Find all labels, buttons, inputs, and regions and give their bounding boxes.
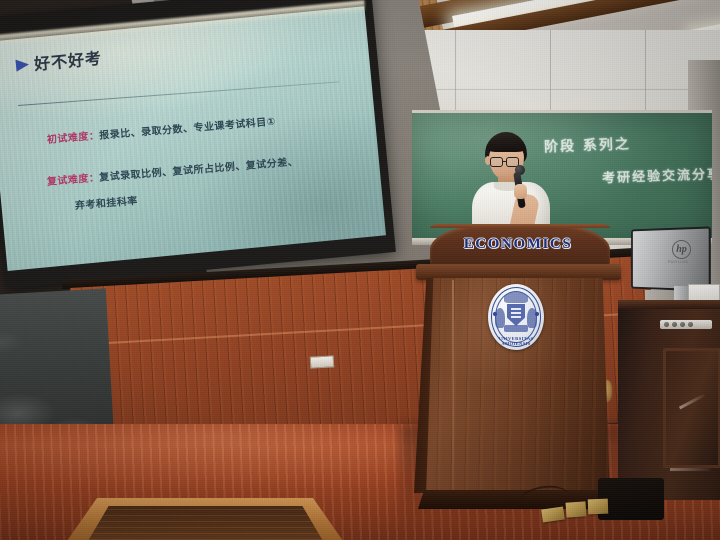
gold-objects-on-floor [540, 496, 650, 530]
glasses-bridge-icon [503, 161, 506, 162]
av-control-cabinet[interactable] [618, 300, 720, 500]
lecture-hall-scene: 阶段 系列之 考研经验交流分享会 好不好考 初试难度：报录比、录取分数、专业课考… [0, 0, 720, 540]
presenter-hand [514, 184, 527, 199]
lectern-ledge [416, 264, 621, 280]
cabinet-control-buttons[interactable] [660, 320, 712, 329]
lectern-edge-highlight [452, 280, 454, 494]
stage-step-surface [78, 506, 333, 540]
wall-switch-plate[interactable] [310, 355, 335, 368]
university-seal-text: UNIVERSITAS AMOIENSIS [488, 336, 544, 346]
cabinet-top-trim [618, 300, 720, 309]
monitor-sublabel: PAVILION [668, 260, 688, 264]
hp-logo-icon: hp [672, 240, 691, 259]
monitor-rear-shell [631, 226, 711, 291]
lectern[interactable]: ECONOMICS UNIVERSITAS AMOIENSIS [414, 224, 622, 509]
lectern-nameplate: ECONOMICS [414, 236, 622, 253]
hp-monitor[interactable]: hp PAVILION [628, 228, 714, 310]
glasses-lens-left-icon [490, 157, 503, 167]
presenter-fringe [486, 137, 526, 152]
cabinet-highlight-lower [670, 468, 710, 471]
university-seal: UNIVERSITAS AMOIENSIS [488, 284, 544, 350]
cabinet-door-panel[interactable] [663, 348, 720, 468]
blue-pentagon-bullet-icon [15, 58, 29, 71]
